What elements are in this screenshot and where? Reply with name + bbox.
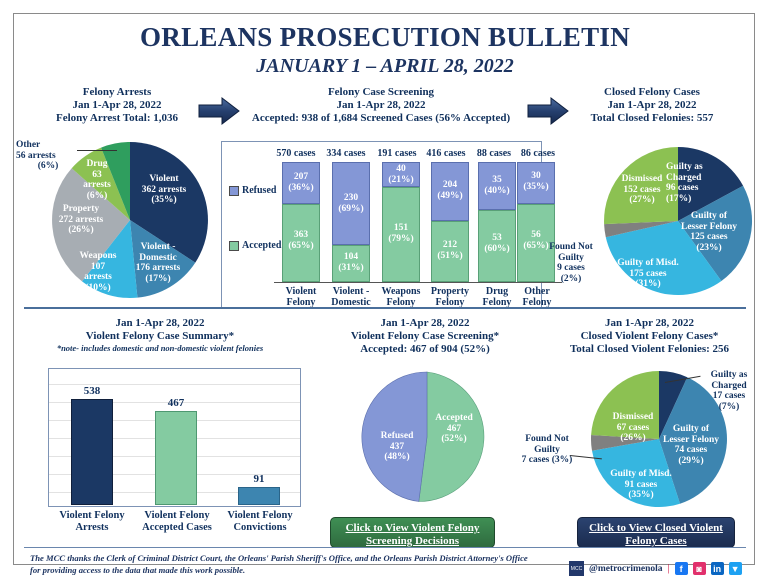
screening-cat-0: ViolentFelony xyxy=(276,286,326,308)
linkedin-icon[interactable]: in xyxy=(711,562,724,575)
arrests-other-leader-line xyxy=(77,150,117,151)
closed-header-line3: Total Closed Felonies: 557 xyxy=(557,112,747,125)
vf-summary-line1: Jan 1-Apr 28, 2022 xyxy=(20,317,300,330)
screening-cat-5: OtherFelony xyxy=(514,286,560,308)
arrests-header: Felony Arrests Jan 1-Apr 28, 2022 Felony… xyxy=(22,86,212,125)
footer-credit: The MCC thanks the Clerk of Criminal Dis… xyxy=(30,553,530,576)
screening-bar-2-accepted-label: 151(79%) xyxy=(382,223,420,244)
screening-header: Felony Case Screening Jan 1-Apr 28, 2022… xyxy=(221,86,541,125)
social-separator: | xyxy=(668,563,670,574)
vf-screening-slice-accepted: Accepted467(52%) xyxy=(426,413,482,445)
social-handle: @metrocrimenola xyxy=(589,564,663,574)
screening-axis-line xyxy=(274,282,562,283)
closed-header: Closed Felony Cases Jan 1-Apr 28, 2022 T… xyxy=(557,86,747,125)
view-screening-decisions-button[interactable]: Click to View Violent Felony Screening D… xyxy=(330,517,495,548)
vf-summary-bar-accepted xyxy=(155,411,197,505)
vf-closed-header: Jan 1-Apr 28, 2022 Closed Violent Felony… xyxy=(542,317,757,356)
vf-closed-slice-guilty-misd: Guilty of Misd.91 cases(35%) xyxy=(601,469,681,501)
view-closed-violent-felony-button[interactable]: Click to View Closed Violent Felony Case… xyxy=(577,517,735,548)
vf-closed-slice-dismissed: Dismissed67 cases(26%) xyxy=(599,412,667,444)
arrests-slice-violent-domestic: Violent -Domestic 176 arrests(17%) xyxy=(124,242,192,284)
vf-summary-value-2: 91 xyxy=(238,473,280,485)
screening-cat-3: PropertyFelony xyxy=(422,286,478,308)
vf-summary-cat-2: Violent FelonyConvictions xyxy=(214,510,306,534)
instagram-icon[interactable]: ◙ xyxy=(693,562,706,575)
arrests-slice-violent: Violent 362 arrests (35%) xyxy=(124,174,204,206)
screening-bar-0-accepted-label: 363(65%) xyxy=(282,230,320,251)
mcc-logo-icon: MCC xyxy=(569,561,584,576)
vf-closed-line2: Closed Violent Felony Cases* xyxy=(542,330,757,343)
vf-closed-slice-found-not-guilty: Found NotGuilty7 cases (3%) xyxy=(511,434,583,466)
screening-bar-1-refused-label: 230(69%) xyxy=(332,193,370,214)
vf-screening-line3: Accepted: 467 of 904 (52%) xyxy=(305,343,545,356)
arrests-slice-other: Other56 arrests(6%) xyxy=(16,140,80,172)
page-subtitle: JANUARY 1 – APRIL 28, 2022 xyxy=(14,55,756,78)
arrests-slice-weapons: Weapons107 arrests(10%) xyxy=(72,251,124,293)
screening-header-line3: Accepted: 938 of 1,684 Screened Cases (5… xyxy=(221,112,541,125)
screening-legend-accepted: Accepted xyxy=(229,240,281,251)
closed-slice-found-not-guilty: Found NotGuilty9 cases(2%) xyxy=(542,242,600,284)
flow-arrow-icon-1 xyxy=(198,96,240,126)
screening-total-5: 86 cases xyxy=(510,148,566,159)
vf-summary-cat-0: Violent FelonyArrests xyxy=(46,510,138,534)
vf-closed-line1: Jan 1-Apr 28, 2022 xyxy=(542,317,757,330)
vf-screening-line2: Violent Felony Case Screening* xyxy=(305,330,545,343)
twitter-icon[interactable]: ▼ xyxy=(729,562,742,575)
arrests-slice-drug: Drug63 arrests(6%) xyxy=(74,159,120,201)
legend-swatch-accepted xyxy=(229,241,239,251)
screening-legend-refused: Refused xyxy=(229,185,276,196)
facebook-icon[interactable]: f xyxy=(675,562,688,575)
vf-screening-header: Jan 1-Apr 28, 2022 Violent Felony Case S… xyxy=(305,317,545,356)
vf-summary-value-0: 538 xyxy=(71,385,113,397)
screening-bar-4-refused-label: 35(40%) xyxy=(478,175,516,196)
closed-slice-guilty-misd: Guilty of Misd.175 cases(31%) xyxy=(606,258,690,290)
screening-bar-4-accepted-label: 53(60%) xyxy=(478,233,516,254)
arrests-header-line2: Jan 1-Apr 28, 2022 xyxy=(22,99,212,112)
vf-summary-note: *note- includes domestic and non-domesti… xyxy=(20,343,300,353)
screening-bar-3-accepted-label: 212(51%) xyxy=(431,240,469,261)
screening-cat-1: Violent -Domestic xyxy=(321,286,381,308)
closed-header-line1: Closed Felony Cases xyxy=(557,86,747,99)
vf-closed-line3: Total Closed Violent Felonies: 256 xyxy=(542,343,757,356)
vf-summary-line2: Violent Felony Case Summary* xyxy=(20,330,300,343)
flow-arrow-icon-2 xyxy=(527,96,569,126)
closed-slice-dismissed: Dismissed152 cases(27%) xyxy=(606,174,678,206)
vf-closed-slice-guilty-as-charged: Guilty asCharged17 cases(7%) xyxy=(698,370,760,412)
screening-header-line2: Jan 1-Apr 28, 2022 xyxy=(221,99,541,112)
vf-summary-header: Jan 1-Apr 28, 2022 Violent Felony Case S… xyxy=(20,317,300,343)
arrests-header-line3: Felony Arrest Total: 1,036 xyxy=(22,112,212,125)
screening-bar-1-accepted-label: 104(31%) xyxy=(332,252,370,273)
vf-summary-cat-1: Violent FelonyAccepted Cases xyxy=(130,510,224,534)
screening-cat-2: WeaponsFelony xyxy=(374,286,428,308)
page-title: ORLEANS PROSECUTION BULLETIN xyxy=(14,22,756,53)
footer-divider xyxy=(24,547,746,548)
screening-bar-5-refused-label: 30(35%) xyxy=(517,171,555,192)
view-closed-line1: Click to View Closed Violent xyxy=(578,522,734,535)
section-divider xyxy=(24,307,746,309)
vf-summary-bar-arrests xyxy=(71,399,113,505)
screening-bar-2-refused-label: 40(21%) xyxy=(382,164,420,185)
closed-header-line2: Jan 1-Apr 28, 2022 xyxy=(557,99,747,112)
arrests-slice-property: Property272 arrests(26%) xyxy=(44,204,118,236)
closed-slice-guilty-lesser-felony: Guilty ofLesser Felony125 cases(23%) xyxy=(669,211,749,253)
vf-screening-slice-refused: Refused437(48%) xyxy=(369,431,425,463)
social-bar: MCC @metrocrimenola | f ◙ in ▼ xyxy=(569,561,742,576)
vf-summary-bar-convictions xyxy=(238,487,280,505)
vf-screening-line1: Jan 1-Apr 28, 2022 xyxy=(305,317,545,330)
legend-swatch-refused xyxy=(229,186,239,196)
bulletin-page: ORLEANS PROSECUTION BULLETIN JANUARY 1 –… xyxy=(13,13,755,565)
screening-header-line1: Felony Case Screening xyxy=(221,86,541,99)
screening-bar-3-refused-label: 204(49%) xyxy=(431,180,469,201)
arrests-header-line1: Felony Arrests xyxy=(22,86,212,99)
screening-bar-0-refused-label: 207(36%) xyxy=(282,172,320,193)
view-screening-decisions-line1: Click to View Violent Felony xyxy=(331,522,494,535)
vf-summary-value-1: 467 xyxy=(155,397,197,409)
